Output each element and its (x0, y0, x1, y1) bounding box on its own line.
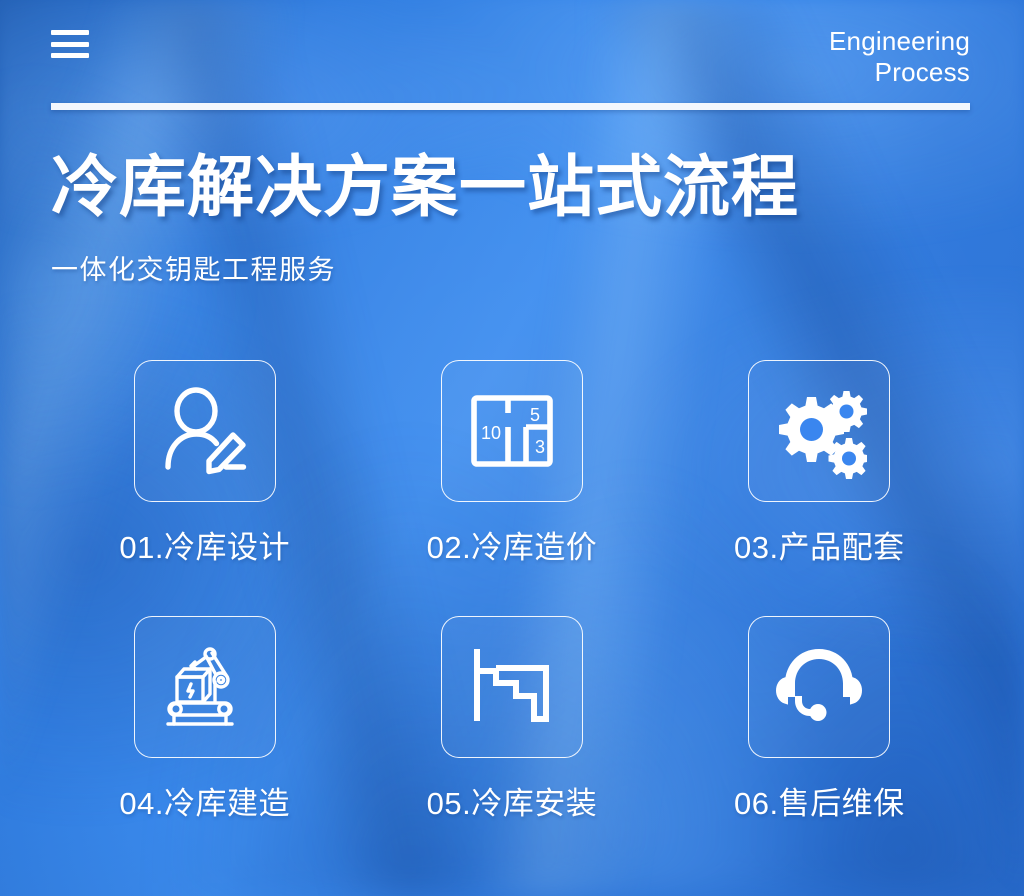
floor-plan-value-5: 5 (530, 405, 540, 425)
step-03-label: 03.产品配套 (734, 529, 905, 567)
hamburger-bar-2 (51, 42, 89, 47)
hamburger-icon[interactable] (51, 30, 89, 58)
step-01-icon-box (134, 360, 276, 502)
step-03-icon-box (748, 360, 890, 502)
step-04-label: 04.冷库建造 (119, 785, 290, 823)
hamburger-bar-1 (51, 30, 89, 35)
page-subtitle: 一体化交钥匙工程服务 (51, 228, 951, 287)
step-card-03[interactable]: 03.产品配套 (674, 360, 964, 616)
floor-plan-value-10: 10 (481, 423, 501, 443)
step-card-04[interactable]: 04.冷库建造 (60, 616, 350, 872)
header: Engineering Process (0, 0, 1024, 120)
step-01-label: 01.冷库设计 (119, 529, 290, 567)
header-divider (51, 103, 970, 110)
step-card-01[interactable]: 01.冷库设计 (60, 360, 350, 616)
title-block: 冷库解决方案一站式流程 一体化交钥匙工程服务 (51, 148, 951, 287)
stair-structure-icon (464, 639, 560, 735)
page-title: 冷库解决方案一站式流程 (51, 148, 951, 228)
step-02-icon-box: 10 5 3 (441, 360, 583, 502)
poster-root: Engineering Process 冷库解决方案一站式流程 一体化交钥匙工程… (0, 0, 1024, 896)
hamburger-bar-3 (51, 53, 89, 58)
step-06-icon-box (748, 616, 890, 758)
step-card-06[interactable]: 06.售后维保 (674, 616, 964, 872)
step-04-icon-box (134, 616, 276, 758)
step-card-05[interactable]: 05.冷库安装 (367, 616, 657, 872)
gears-icon (771, 383, 867, 479)
robot-arm-conveyor-icon (155, 637, 255, 737)
floor-plan-value-3: 3 (535, 437, 545, 457)
headset-icon (771, 639, 867, 735)
step-02-label: 02.冷库造价 (427, 529, 598, 567)
header-eyebrow-text: Engineering Process (550, 26, 970, 88)
step-05-label: 05.冷库安装 (427, 785, 598, 823)
user-pencil-design-icon (157, 383, 253, 479)
step-card-02[interactable]: 10 5 3 02.冷库造价 (367, 360, 657, 616)
step-06-label: 06.售后维保 (734, 785, 905, 823)
floor-plan-icon: 10 5 3 (464, 383, 560, 479)
step-05-icon-box (441, 616, 583, 758)
steps-grid: 01.冷库设计 10 5 3 02.冷库造价 (51, 360, 973, 872)
